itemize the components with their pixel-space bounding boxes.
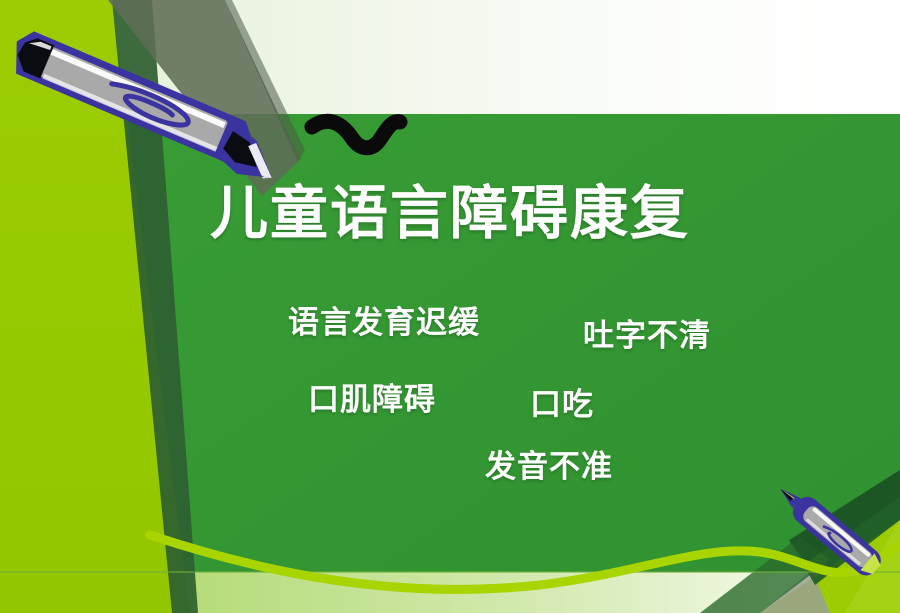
poster-background xyxy=(0,0,900,613)
poster-canvas: 儿童语言障碍康复 语言发育迟缓 吐字不清 口肌障碍 口吃 发音不准 xyxy=(0,0,900,613)
